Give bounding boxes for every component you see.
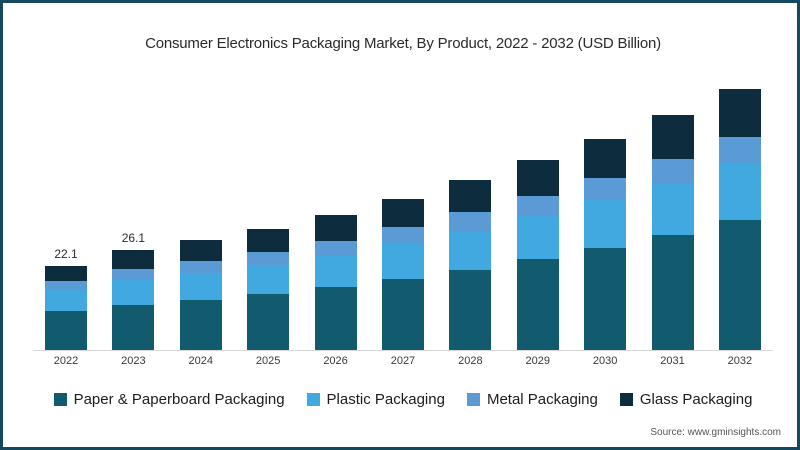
legend-item-glass-packaging[interactable]: Glass Packaging [620,391,753,408]
bar-segment-plastic-packaging[interactable] [517,216,559,259]
legend-item-paper-paperboard-packaging[interactable]: Paper & Paperboard Packaging [54,391,285,408]
stacked-bar[interactable] [517,160,559,350]
bar-value-label: 22.1 [54,247,77,261]
bar-segment-plastic-packaging[interactable] [652,183,694,235]
legend-item-metal-packaging[interactable]: Metal Packaging [467,391,598,408]
x-tick-2031: 2031 [652,355,694,367]
legend-swatch-icon [54,393,67,406]
stacked-bar[interactable] [382,199,424,350]
bar-segment-paper-paperboard-packaging[interactable] [382,279,424,350]
bar-segment-glass-packaging[interactable] [247,229,289,252]
bar-segment-metal-packaging[interactable] [45,281,87,290]
bar-group-2023[interactable]: 26.1 [112,63,154,350]
x-tick-2029: 2029 [517,355,559,367]
bar-segment-plastic-packaging[interactable] [45,290,87,311]
bar-segment-glass-packaging[interactable] [382,199,424,228]
bar-segment-paper-paperboard-packaging[interactable] [112,305,154,350]
x-tick-2023: 2023 [112,355,154,367]
legend-item-plastic-packaging[interactable]: Plastic Packaging [307,391,445,408]
legend-swatch-icon [307,393,320,406]
bar-segment-glass-packaging[interactable] [315,215,357,241]
bar-segment-metal-packaging[interactable] [112,269,154,279]
stacked-bar[interactable] [449,180,491,350]
bar-segment-glass-packaging[interactable] [517,160,559,195]
bar-segment-paper-paperboard-packaging[interactable] [449,270,491,350]
chart-title: Consumer Electronics Packaging Market, B… [3,35,800,52]
bar-segment-metal-packaging[interactable] [584,178,626,200]
x-tick-2024: 2024 [180,355,222,367]
stacked-bar[interactable]: 26.1 [112,250,154,350]
bar-segment-plastic-packaging[interactable] [584,200,626,247]
x-tick-2027: 2027 [382,355,424,367]
bar-group-2026[interactable] [315,63,357,350]
stacked-bar[interactable] [719,89,761,350]
bar-group-2025[interactable] [247,63,289,350]
bar-segment-paper-paperboard-packaging[interactable] [517,259,559,350]
bar-segment-glass-packaging[interactable] [180,240,222,261]
legend-label: Metal Packaging [487,391,598,408]
bar-segment-metal-packaging[interactable] [247,252,289,265]
bar-group-2030[interactable] [584,63,626,350]
bar-group-2031[interactable] [652,63,694,350]
x-tick-2022: 2022 [45,355,87,367]
bar-segment-metal-packaging[interactable] [449,212,491,230]
bar-segment-plastic-packaging[interactable] [719,164,761,220]
bar-segment-metal-packaging[interactable] [652,159,694,183]
bar-segment-glass-packaging[interactable] [449,180,491,212]
x-tick-2025: 2025 [247,355,289,367]
legend-label: Plastic Packaging [327,391,445,408]
bar-series-container: 22.126.1 [33,63,773,350]
chart-legend: Paper & Paperboard PackagingPlastic Pack… [3,391,800,408]
chart-frame: Consumer Electronics Packaging Market, B… [0,0,800,450]
bar-segment-glass-packaging[interactable] [652,115,694,159]
bar-segment-plastic-packaging[interactable] [112,279,154,304]
bar-segment-paper-paperboard-packaging[interactable] [247,294,289,350]
legend-label: Glass Packaging [640,391,753,408]
bar-segment-paper-paperboard-packaging[interactable] [719,220,761,350]
legend-swatch-icon [620,393,633,406]
legend-label: Paper & Paperboard Packaging [74,391,285,408]
bar-segment-metal-packaging[interactable] [180,261,222,273]
legend-swatch-icon [467,393,480,406]
bar-segment-paper-paperboard-packaging[interactable] [315,287,357,350]
bar-group-2029[interactable] [517,63,559,350]
stacked-bar[interactable]: 22.1 [45,266,87,350]
bar-group-2028[interactable] [449,63,491,350]
x-tick-2026: 2026 [315,355,357,367]
bar-segment-metal-packaging[interactable] [382,227,424,243]
bar-segment-glass-packaging[interactable] [112,250,154,269]
stacked-bar[interactable] [180,240,222,350]
bar-segment-plastic-packaging[interactable] [382,244,424,279]
x-axis-tick-labels: 2022202320242025202620272028202920302031… [33,355,773,367]
bar-segment-plastic-packaging[interactable] [247,265,289,295]
stacked-bar[interactable] [247,229,289,350]
x-tick-2028: 2028 [449,355,491,367]
bar-group-2022[interactable]: 22.1 [45,63,87,350]
bar-group-2024[interactable] [180,63,222,350]
x-tick-2032: 2032 [719,355,761,367]
bar-segment-paper-paperboard-packaging[interactable] [652,235,694,350]
bar-segment-metal-packaging[interactable] [719,137,761,164]
stacked-bar[interactable] [315,215,357,350]
bar-segment-glass-packaging[interactable] [45,266,87,282]
bar-segment-plastic-packaging[interactable] [315,255,357,287]
bar-segment-paper-paperboard-packaging[interactable] [45,311,87,350]
x-axis-line [33,350,773,351]
bar-segment-paper-paperboard-packaging[interactable] [584,248,626,350]
bar-value-label: 26.1 [122,231,145,245]
source-attribution: Source: www.gminsights.com [650,427,781,438]
bar-segment-glass-packaging[interactable] [584,139,626,178]
bar-segment-paper-paperboard-packaging[interactable] [180,300,222,350]
bar-segment-plastic-packaging[interactable] [180,273,222,300]
bar-segment-metal-packaging[interactable] [315,241,357,256]
bar-segment-metal-packaging[interactable] [517,196,559,216]
stacked-bar[interactable] [584,139,626,350]
bar-segment-plastic-packaging[interactable] [449,231,491,270]
bar-segment-glass-packaging[interactable] [719,89,761,137]
bar-group-2032[interactable] [719,63,761,350]
bar-group-2027[interactable] [382,63,424,350]
stacked-bar[interactable] [652,115,694,350]
x-tick-2030: 2030 [584,355,626,367]
